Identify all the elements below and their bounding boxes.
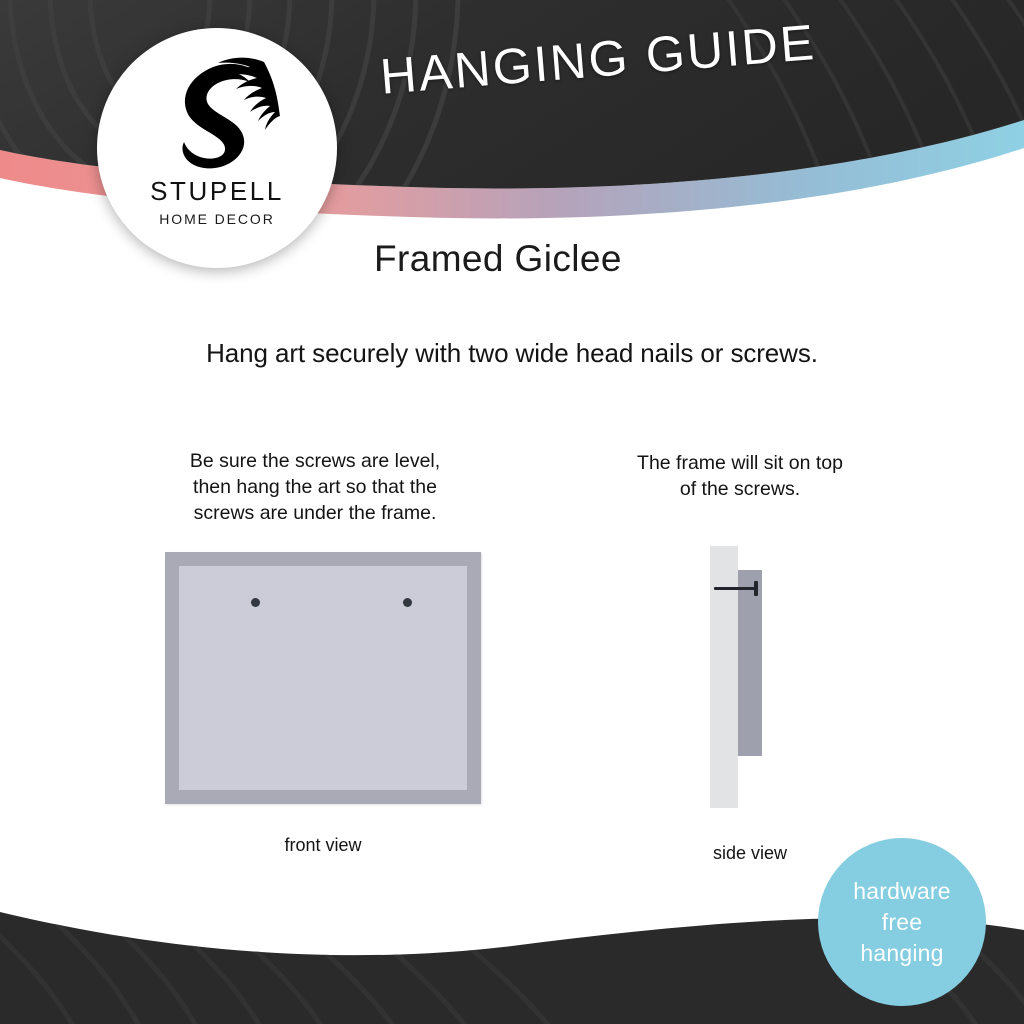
- side-view-caption: The frame will sit on top of the screws.: [600, 450, 880, 502]
- side-view-label: side view: [650, 843, 850, 864]
- brand-name: STUPELL: [150, 178, 284, 204]
- side-caption-line-1: The frame will sit on top: [600, 450, 880, 476]
- main-instruction: Hang art securely with two wide head nai…: [0, 338, 1024, 369]
- badge-line-2: free: [882, 907, 922, 938]
- front-caption-line-1: Be sure the screws are level,: [155, 448, 475, 474]
- front-caption-line-2: then hang the art so that the: [155, 474, 475, 500]
- hanging-guide-page: STUPELL HOME DECOR HANGING GUIDE Framed …: [0, 0, 1024, 1024]
- side-view-frame-diagram: [710, 546, 790, 808]
- front-view-frame-diagram: [165, 552, 481, 804]
- brand-tagline: HOME DECOR: [159, 212, 274, 226]
- hardware-free-hanging-badge: hardware free hanging: [818, 838, 986, 1006]
- frame-profile: [738, 570, 762, 756]
- screw-dot-right-icon: [403, 598, 412, 607]
- front-caption-line-3: screws are under the frame.: [155, 500, 475, 526]
- stupell-swoosh-logo-icon: [154, 54, 280, 170]
- nail-head-icon: [754, 581, 758, 596]
- badge-line-1: hardware: [853, 876, 951, 907]
- nail-shaft-icon: [714, 587, 758, 590]
- front-view-caption: Be sure the screws are level, then hang …: [155, 448, 475, 526]
- page-title: HANGING GUIDE: [378, 6, 901, 106]
- frame-mat-area: [179, 566, 467, 790]
- product-subtitle: Framed Giclee: [374, 238, 622, 280]
- wall-surface: [710, 546, 738, 808]
- front-view-label: front view: [165, 835, 481, 856]
- side-caption-line-2: of the screws.: [600, 476, 880, 502]
- stupell-logo-badge: STUPELL HOME DECOR: [97, 28, 337, 268]
- screw-dot-left-icon: [251, 598, 260, 607]
- badge-line-3: hanging: [860, 938, 943, 969]
